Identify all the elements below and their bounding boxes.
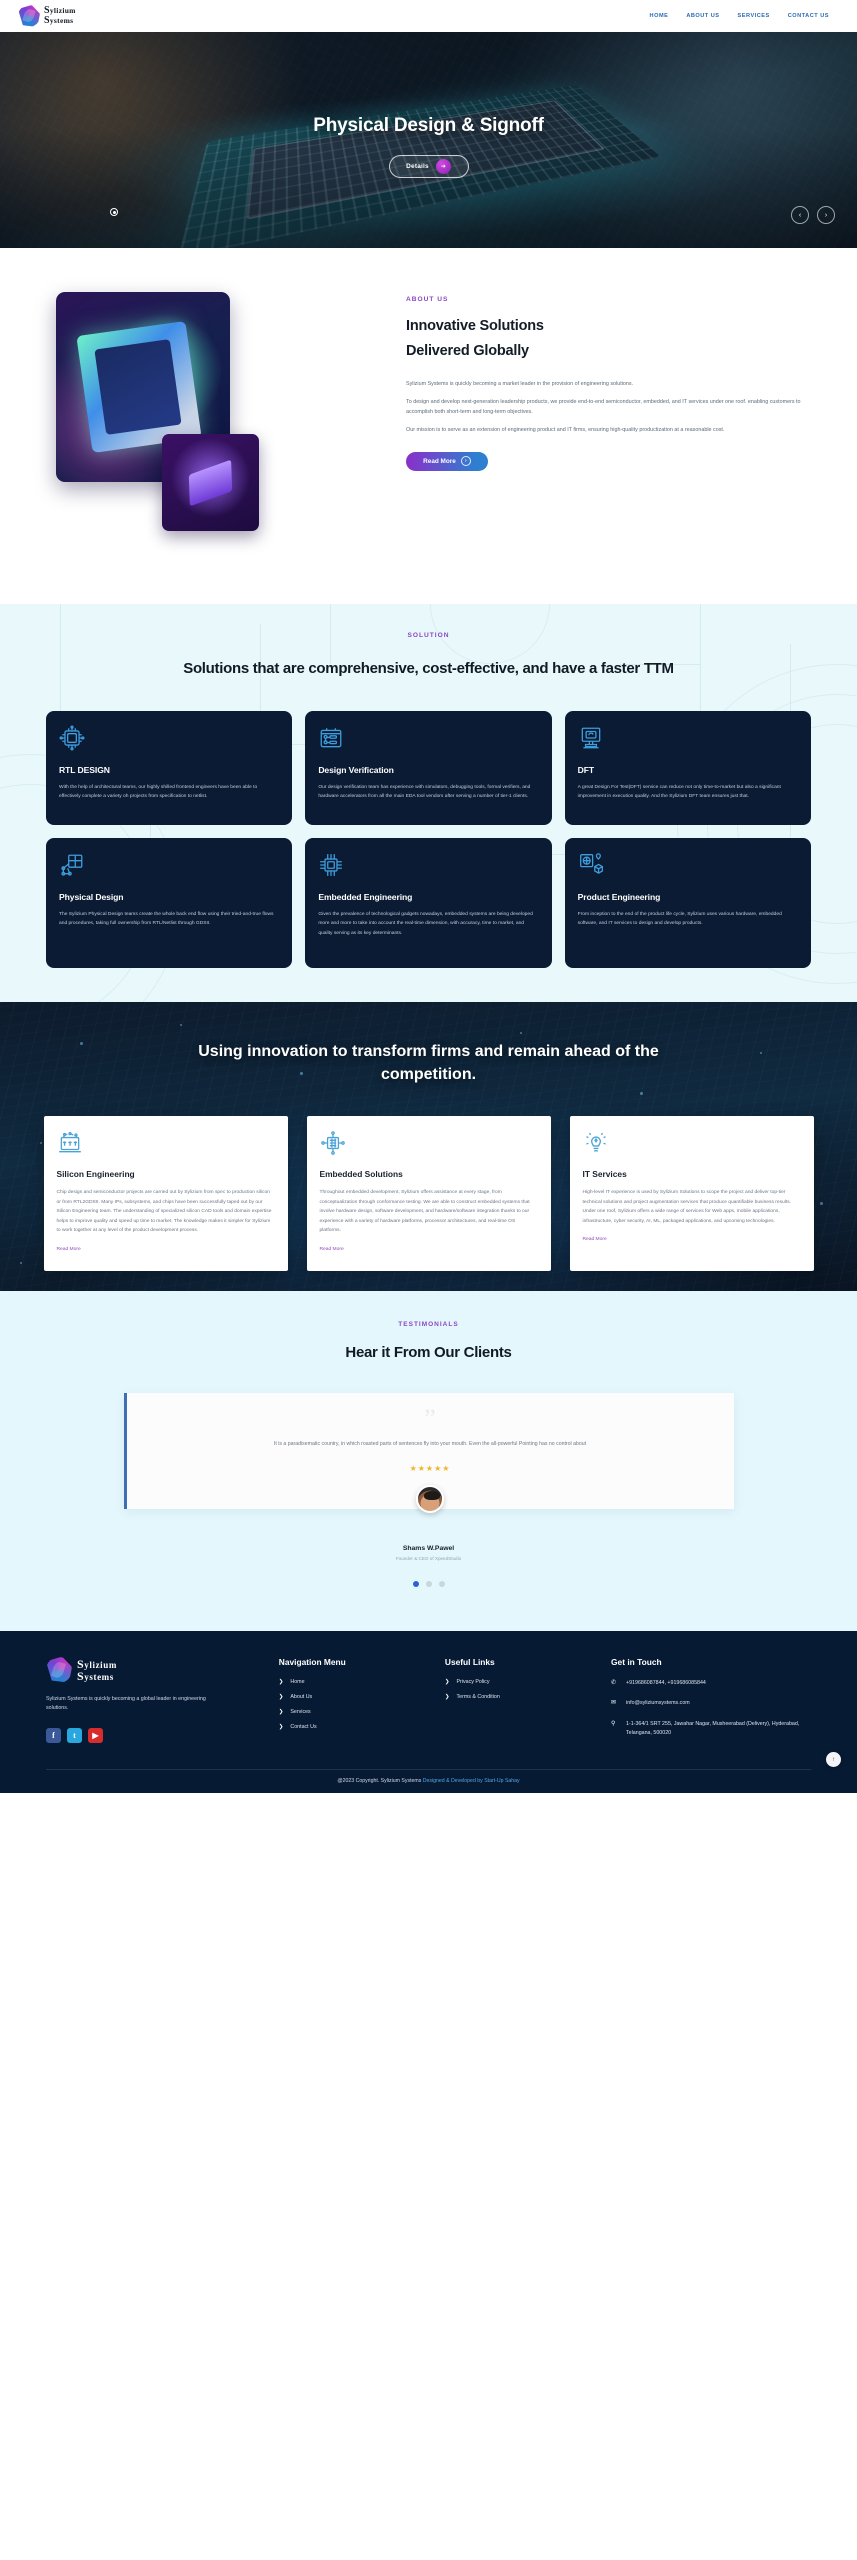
about-paragraph-1: Sylizium Systems is quickly becoming a m…	[406, 379, 811, 389]
facebook-icon[interactable]: f	[46, 1728, 61, 1743]
list-item[interactable]: ✆ +919686087844, +919686085844	[611, 1679, 811, 1689]
footer-useful-link[interactable]: Terms & Condition	[457, 1694, 500, 1700]
chevron-right-icon: ❯	[279, 1679, 284, 1685]
location-pin-icon: ⚲	[611, 1720, 619, 1730]
chevron-right-icon: ❯	[445, 1679, 450, 1685]
solution-card[interactable]: Product Engineering From inception to th…	[565, 838, 811, 968]
innovation-read-more-link[interactable]: Read More	[583, 1237, 607, 1242]
footer-logo-line-1: Sylizium	[77, 1658, 117, 1670]
solution-card-text: A great Design For Test(DFT) service can…	[578, 783, 798, 802]
footer-nav-link[interactable]: Contact Us	[290, 1724, 316, 1730]
solution-card-title: Embedded Engineering	[318, 892, 538, 902]
slider-dot-icon[interactable]	[110, 208, 118, 216]
footer-social-links: f t ▶	[46, 1728, 261, 1743]
nav-item-home[interactable]: HOME	[650, 13, 669, 19]
footer-nav-link[interactable]: Services	[290, 1709, 310, 1715]
innovation-section: Using innovation to transform firms and …	[0, 1002, 857, 1291]
solution-card-title: DFT	[578, 765, 798, 775]
testimonial-card: ” It is a paradisematic country, in whic…	[124, 1393, 734, 1509]
logo-line-2: Systems	[44, 16, 76, 26]
footer-about-text: Sylizium Systems is quickly becoming a g…	[46, 1695, 211, 1715]
footer-contact-title: Get in Touch	[611, 1657, 811, 1667]
footer-brand-column: Sylizium Systems Sylizium Systems is qui…	[46, 1657, 261, 1750]
innovation-card[interactable]: Silicon Engineering Chip design and semi…	[44, 1116, 288, 1271]
hero-details-button[interactable]: Details ➜	[389, 155, 469, 178]
about-heading-line-1: Innovative Solutions	[406, 314, 811, 339]
nav-item-services[interactable]: SERVICES	[738, 13, 770, 19]
chip-circuit-icon	[59, 725, 85, 751]
envelope-icon: ✉	[611, 1699, 619, 1709]
product-package-icon	[578, 852, 604, 878]
solution-card[interactable]: Design Verification Our design verificat…	[305, 711, 551, 825]
list-item[interactable]: ❯Contact Us	[279, 1724, 427, 1730]
purple-chip-render-image	[162, 434, 259, 531]
footer-contact-column: Get in Touch ✆ +919686087844, +919686085…	[611, 1657, 811, 1750]
phone-icon: ✆	[611, 1679, 619, 1689]
footer-logo-line-2: Systems	[77, 1670, 117, 1682]
testimonial-slider-dots	[0, 1581, 857, 1587]
arrow-up-icon[interactable]: ↑	[826, 1752, 841, 1767]
testimonials-title: Hear it From Our Clients	[0, 1344, 857, 1361]
chevron-right-circle-icon: ›	[461, 456, 471, 466]
innovation-card-title: Silicon Engineering	[57, 1169, 275, 1179]
testimonial-quote: It is a paradisematic country, in which …	[157, 1440, 704, 1450]
sylizium-swirl-logo-icon	[46, 1657, 72, 1683]
about-section: ABOUT US Innovative Solutions Delivered …	[0, 248, 857, 604]
solution-eyebrow: SOLUTION	[0, 632, 857, 639]
innovation-card[interactable]: IT Services High-level IT experience is …	[570, 1116, 814, 1271]
primary-nav: HOME ABOUT US SERVICES CONTACT US	[650, 13, 839, 19]
chevron-right-icon: ❯	[279, 1724, 284, 1730]
slider-dot[interactable]	[439, 1581, 445, 1587]
physical-design-layout-icon	[59, 852, 85, 878]
innovation-card-title: IT Services	[583, 1169, 801, 1179]
hero-details-label: Details	[406, 163, 429, 170]
about-images	[46, 292, 406, 542]
dft-tester-icon	[578, 725, 604, 751]
logo-wordmark: Sylizium Systems	[44, 6, 76, 26]
nav-item-contact-us[interactable]: CONTACT US	[788, 13, 829, 19]
innovation-card-title: Embedded Solutions	[320, 1169, 538, 1179]
chevron-right-icon: ❯	[279, 1694, 284, 1700]
solution-section: SOLUTION Solutions that are comprehensiv…	[0, 604, 857, 1002]
about-read-more-button[interactable]: Read More ›	[406, 452, 488, 471]
innovation-card-text: Throughout embedded development, Syliziu…	[320, 1188, 538, 1236]
hero-slider-controls: ‹ ›	[791, 206, 835, 224]
embedded-chip-icon	[318, 852, 344, 878]
list-item[interactable]: ✉ info@syliziumsystems.com	[611, 1699, 811, 1709]
testimonial-star-rating: ★★★★★	[157, 1464, 704, 1473]
client-avatar	[416, 1485, 444, 1513]
testimonial-author-name: Shams W.Pawel	[0, 1545, 857, 1552]
list-item: ⚲ 1-1-364/1 SRT 255, Jawahar Nagar, Mush…	[611, 1720, 811, 1739]
chevron-right-icon: ❯	[445, 1694, 450, 1700]
sylizium-swirl-logo-icon	[18, 5, 40, 27]
innovation-card-text: Chip design and semiconductor projects a…	[57, 1188, 275, 1236]
list-item[interactable]: ❯About Us	[279, 1694, 427, 1700]
silicon-wafer-tools-icon	[57, 1130, 83, 1156]
hero-title: Physical Design & Signoff	[313, 115, 543, 137]
testimonials-eyebrow: TESTIMONIALS	[0, 1321, 857, 1328]
solution-card[interactable]: RTL DESIGN With the help of architectura…	[46, 711, 292, 825]
embedded-board-icon	[320, 1130, 346, 1156]
list-item[interactable]: ❯Privacy Policy	[445, 1679, 593, 1685]
site-header: Sylizium Systems HOME ABOUT US SERVICES …	[0, 0, 857, 32]
footer-useful-link[interactable]: Privacy Policy	[457, 1679, 490, 1685]
about-read-more-label: Read More	[423, 458, 456, 465]
solution-card-text: With the help of architectural teams, ou…	[59, 783, 279, 802]
innovation-read-more-link[interactable]: Read More	[57, 1247, 81, 1252]
about-paragraph-2: To design and develop next-generation le…	[406, 397, 811, 417]
innovation-title: Using innovation to transform firms and …	[149, 1040, 709, 1086]
innovation-card[interactable]: Embedded Solutions Throughout embedded d…	[307, 1116, 551, 1271]
chevron-right-icon: ❯	[279, 1709, 284, 1715]
footer-email-text: info@syliziumsystems.com	[626, 1699, 690, 1708]
solution-card-text: Given the prevalence of technological ga…	[318, 910, 538, 939]
twitter-icon[interactable]: t	[67, 1728, 82, 1743]
chevron-left-icon[interactable]: ‹	[791, 206, 809, 224]
testimonials-section: TESTIMONIALS Hear it From Our Clients ” …	[0, 1291, 857, 1631]
footer-nav-link[interactable]: About Us	[290, 1694, 312, 1700]
solution-card[interactable]: DFT A great Design For Test(DFT) service…	[565, 711, 811, 825]
innovation-cards: Silicon Engineering Chip design and semi…	[44, 1116, 814, 1291]
solution-card-title: RTL DESIGN	[59, 765, 279, 775]
header-logo[interactable]: Sylizium Systems	[18, 5, 76, 27]
solution-card-title: Product Engineering	[578, 892, 798, 902]
solution-cards: RTL DESIGN With the help of architectura…	[46, 711, 811, 968]
hero-banner: Physical Design & Signoff Details ➜ ‹ ›	[0, 32, 857, 248]
about-heading-line-2: Delivered Globally	[406, 339, 811, 364]
about-eyebrow: ABOUT US	[406, 296, 811, 303]
innovation-card-text: High-level IT experience is used by Syli…	[583, 1188, 801, 1226]
footer-phone-text: +919686087844, +919686085844	[626, 1679, 706, 1688]
solution-card-text: Our design verification team has experie…	[318, 783, 538, 802]
solution-title: Solutions that are comprehensive, cost-e…	[129, 654, 729, 685]
innovation-read-more-link[interactable]: Read More	[320, 1247, 344, 1252]
footer-copyright-bar: @2023 Copyright. Sylizium Systems Design…	[46, 1769, 811, 1793]
youtube-icon[interactable]: ▶	[88, 1728, 103, 1743]
footer-useful-title: Useful Links	[445, 1657, 593, 1667]
footer-nav-title: Navigation Menu	[279, 1657, 427, 1667]
site-footer: Sylizium Systems Sylizium Systems is qui…	[0, 1631, 857, 1794]
footer-address-text: 1-1-364/1 SRT 255, Jawahar Nagar, Mushee…	[626, 1720, 811, 1739]
solution-card-text: The Sylizium Physical Design teams creat…	[59, 910, 279, 929]
list-item[interactable]: ❯Home	[279, 1679, 427, 1685]
landing-page: Sylizium Systems HOME ABOUT US SERVICES …	[0, 0, 857, 1793]
about-paragraph-3: Our mission is to serve as an extension …	[406, 425, 811, 435]
list-item[interactable]: ❯Terms & Condition	[445, 1694, 593, 1700]
chevron-right-icon[interactable]: ›	[817, 206, 835, 224]
list-item[interactable]: ❯Services	[279, 1709, 427, 1715]
nav-item-about-us[interactable]: ABOUT US	[686, 13, 719, 19]
footer-nav-link[interactable]: Home	[290, 1679, 304, 1685]
lightbulb-gear-icon	[583, 1130, 609, 1156]
footer-copyright-text: @2023 Copyright. Sylizium Systems	[337, 1778, 422, 1784]
solution-card-title: Design Verification	[318, 765, 538, 775]
verification-flowchart-icon	[318, 725, 344, 751]
quote-mark-icon: ”	[157, 1409, 704, 1430]
footer-useful-links-column: Useful Links ❯Privacy Policy ❯Terms & Co…	[445, 1657, 593, 1750]
arrow-right-icon: ➜	[436, 159, 451, 174]
testimonial-author-role: Founder & CEO of XpeedStudio	[0, 1556, 857, 1561]
solution-card[interactable]: Physical Design The Sylizium Physical De…	[46, 838, 292, 968]
footer-credit-link[interactable]: Designed & Developed by Start-Up Sahay	[423, 1778, 520, 1784]
slider-dot-active[interactable]	[413, 1581, 419, 1587]
footer-logo[interactable]: Sylizium Systems	[46, 1657, 261, 1683]
footer-navigation-column: Navigation Menu ❯Home ❯About Us ❯Service…	[279, 1657, 427, 1750]
solution-card[interactable]: Embedded Engineering Given the prevalenc…	[305, 838, 551, 968]
slider-dot[interactable]	[426, 1581, 432, 1587]
solution-card-text: From inception to the end of the product…	[578, 910, 798, 929]
solution-card-title: Physical Design	[59, 892, 279, 902]
